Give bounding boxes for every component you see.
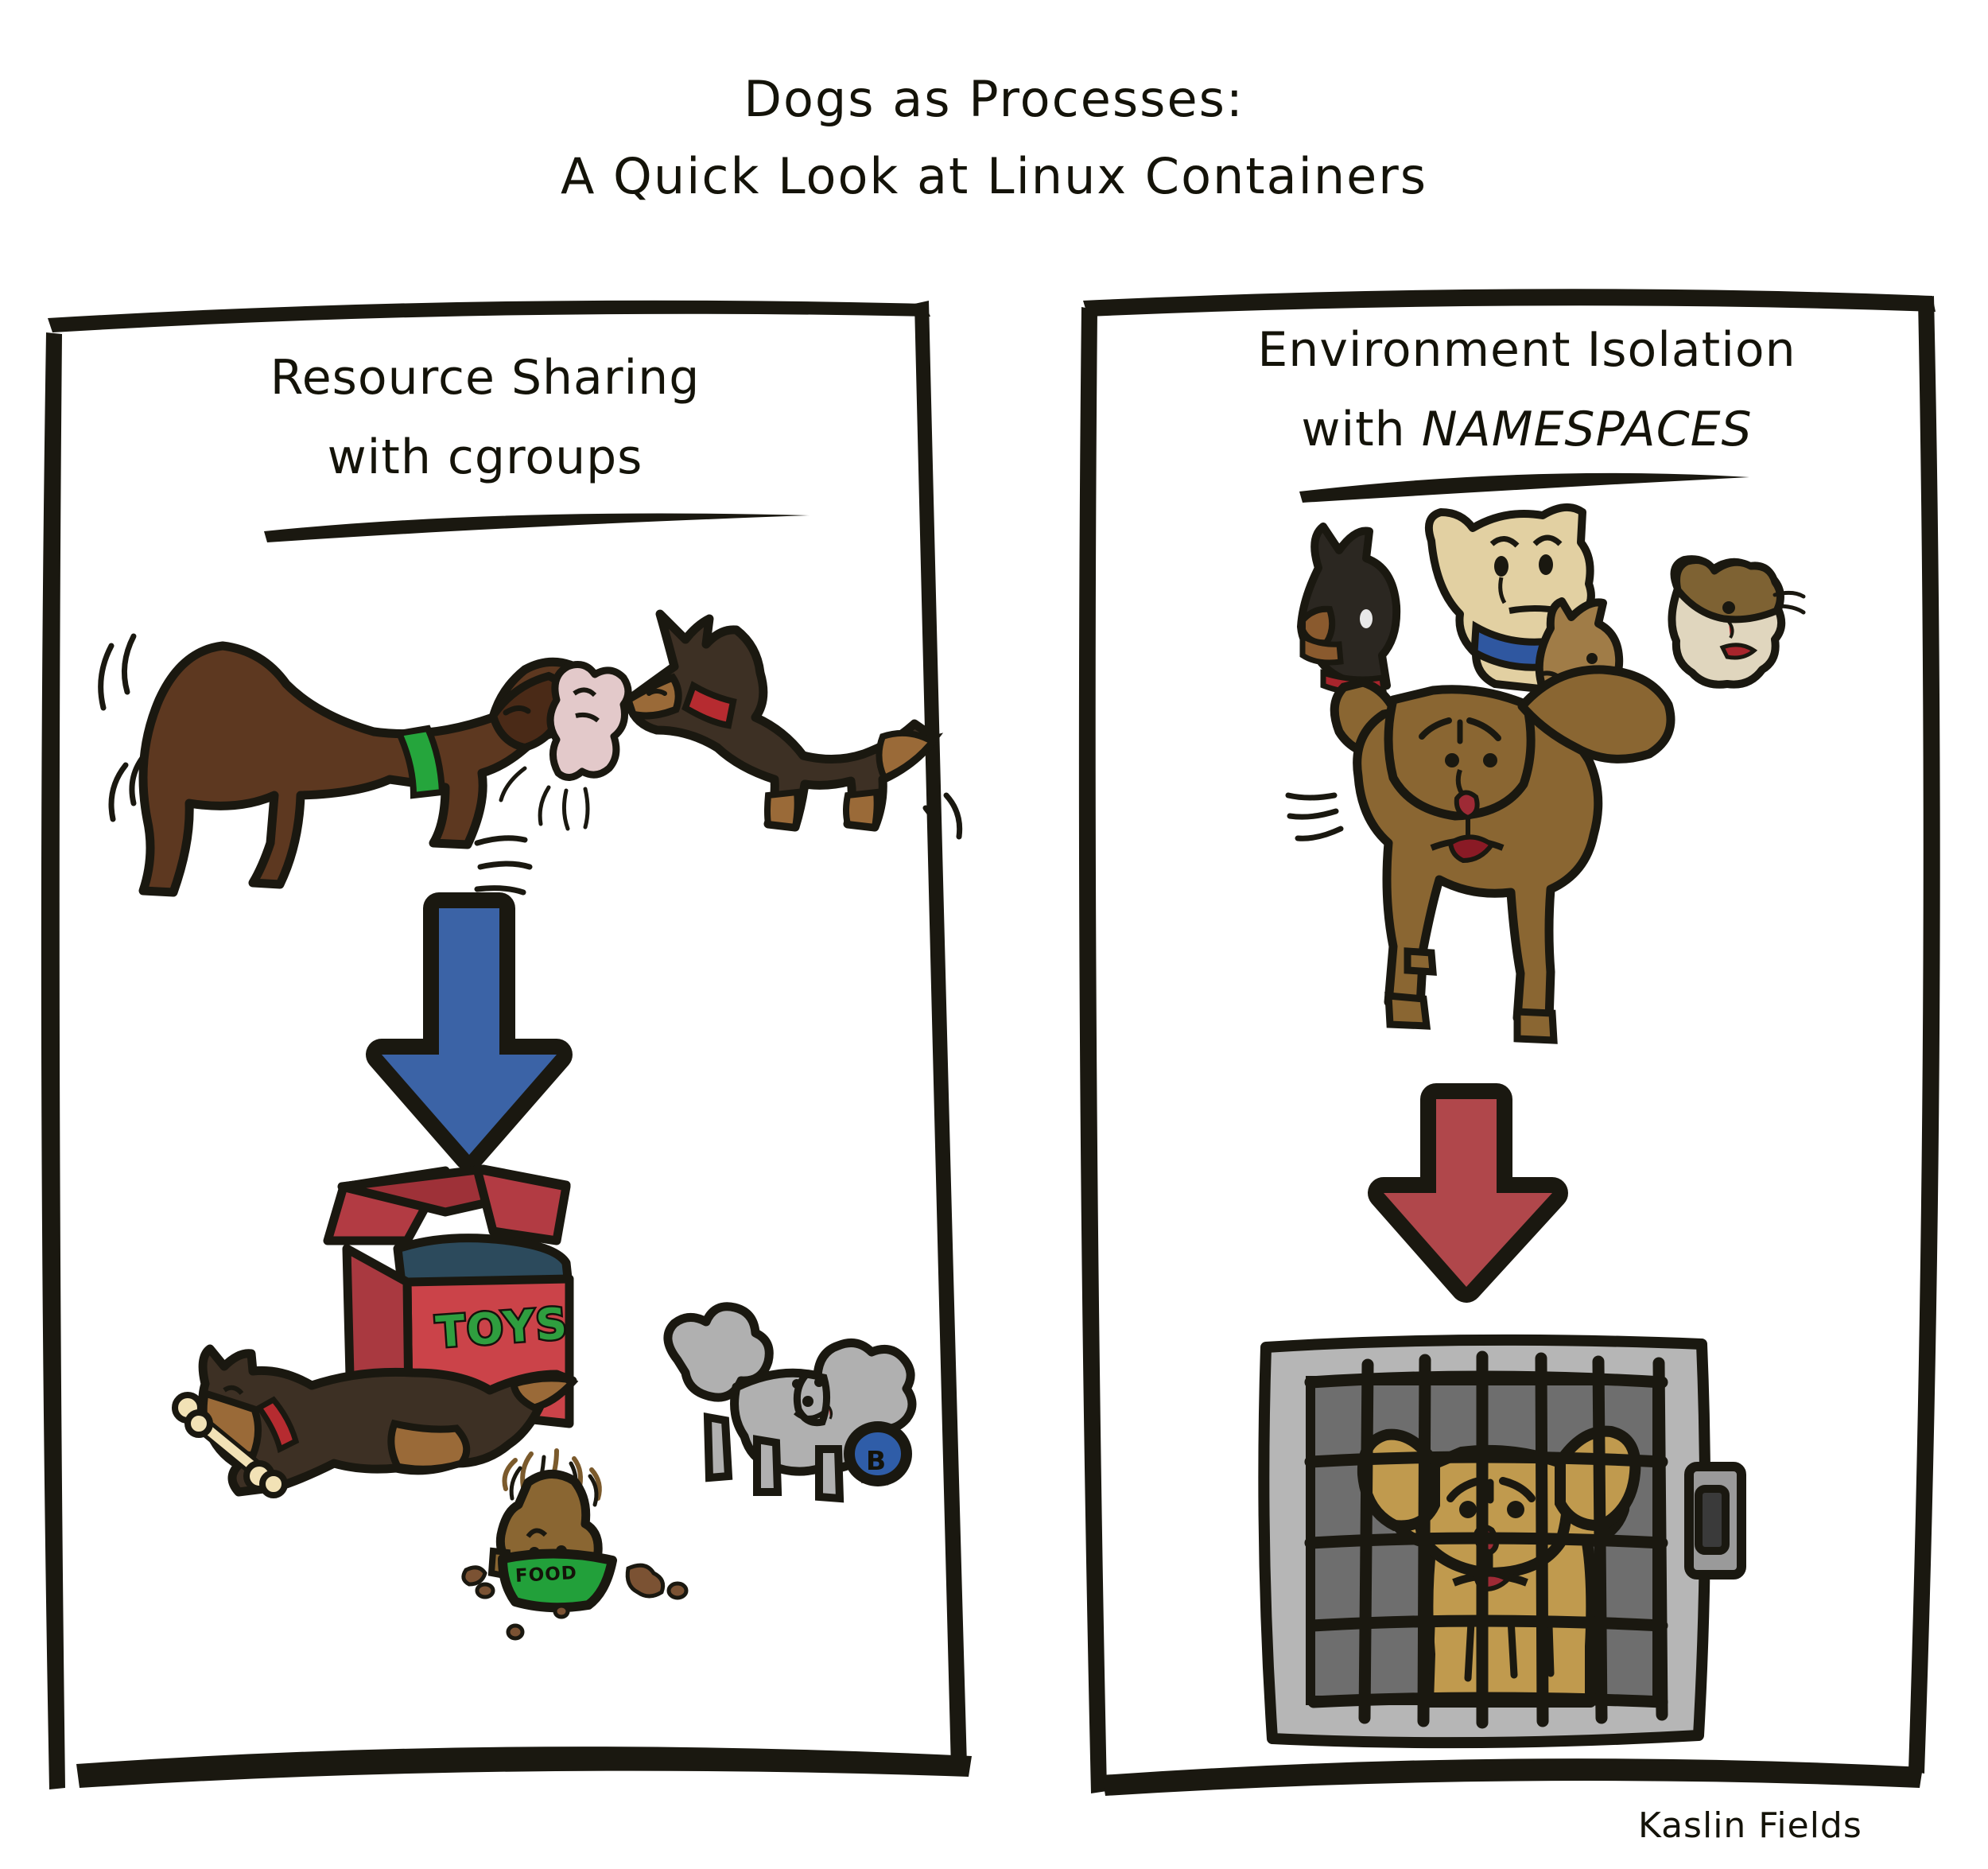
doberman-head <box>1301 527 1396 693</box>
pug-head <box>1672 559 1804 685</box>
comic-title-line2: A Quick Look at Linux Containers <box>0 147 1988 205</box>
left-panel-heading-line1: Resource Sharing <box>56 350 914 406</box>
crate-latch[interactable] <box>1689 1467 1741 1575</box>
right-panel-heading-line1: Environment Isolation <box>1097 322 1956 378</box>
left-heading-underline <box>264 514 810 543</box>
chocolate-lab <box>143 646 604 892</box>
brown-dog-wagging <box>1288 670 1671 1040</box>
doberman-tugging <box>628 614 960 849</box>
right-panel-heading-line2: with NAMESPACES <box>1097 402 1956 457</box>
blue-down-arrow[interactable] <box>382 908 557 1155</box>
comic-title-line1: Dogs as Processes: <box>0 70 1988 128</box>
tug-of-war-scene <box>101 614 960 892</box>
left-panel-heading-line2: with cgroups <box>56 429 914 485</box>
ball-label: B <box>866 1445 886 1476</box>
right-heading-namespaces: NAMESPACES <box>1422 402 1753 457</box>
dog-crate-scene <box>1264 1340 1741 1743</box>
food-bowl-label: FOOD <box>514 1563 577 1587</box>
toy-box-label: TOYS <box>434 1298 570 1357</box>
right-heading-prefix: with <box>1301 402 1421 457</box>
red-down-arrow[interactable] <box>1384 1099 1552 1287</box>
namespace-dog-heads <box>1288 507 1804 1040</box>
comic-canvas: Dogs as Processes: A Quick Look at Linux… <box>0 0 1988 1869</box>
artist-signature: Kaslin Fields <box>1638 1805 1862 1846</box>
comic-illustration <box>0 0 1988 1869</box>
right-heading-underline <box>1299 473 1749 503</box>
puppy-eating <box>464 1451 686 1638</box>
